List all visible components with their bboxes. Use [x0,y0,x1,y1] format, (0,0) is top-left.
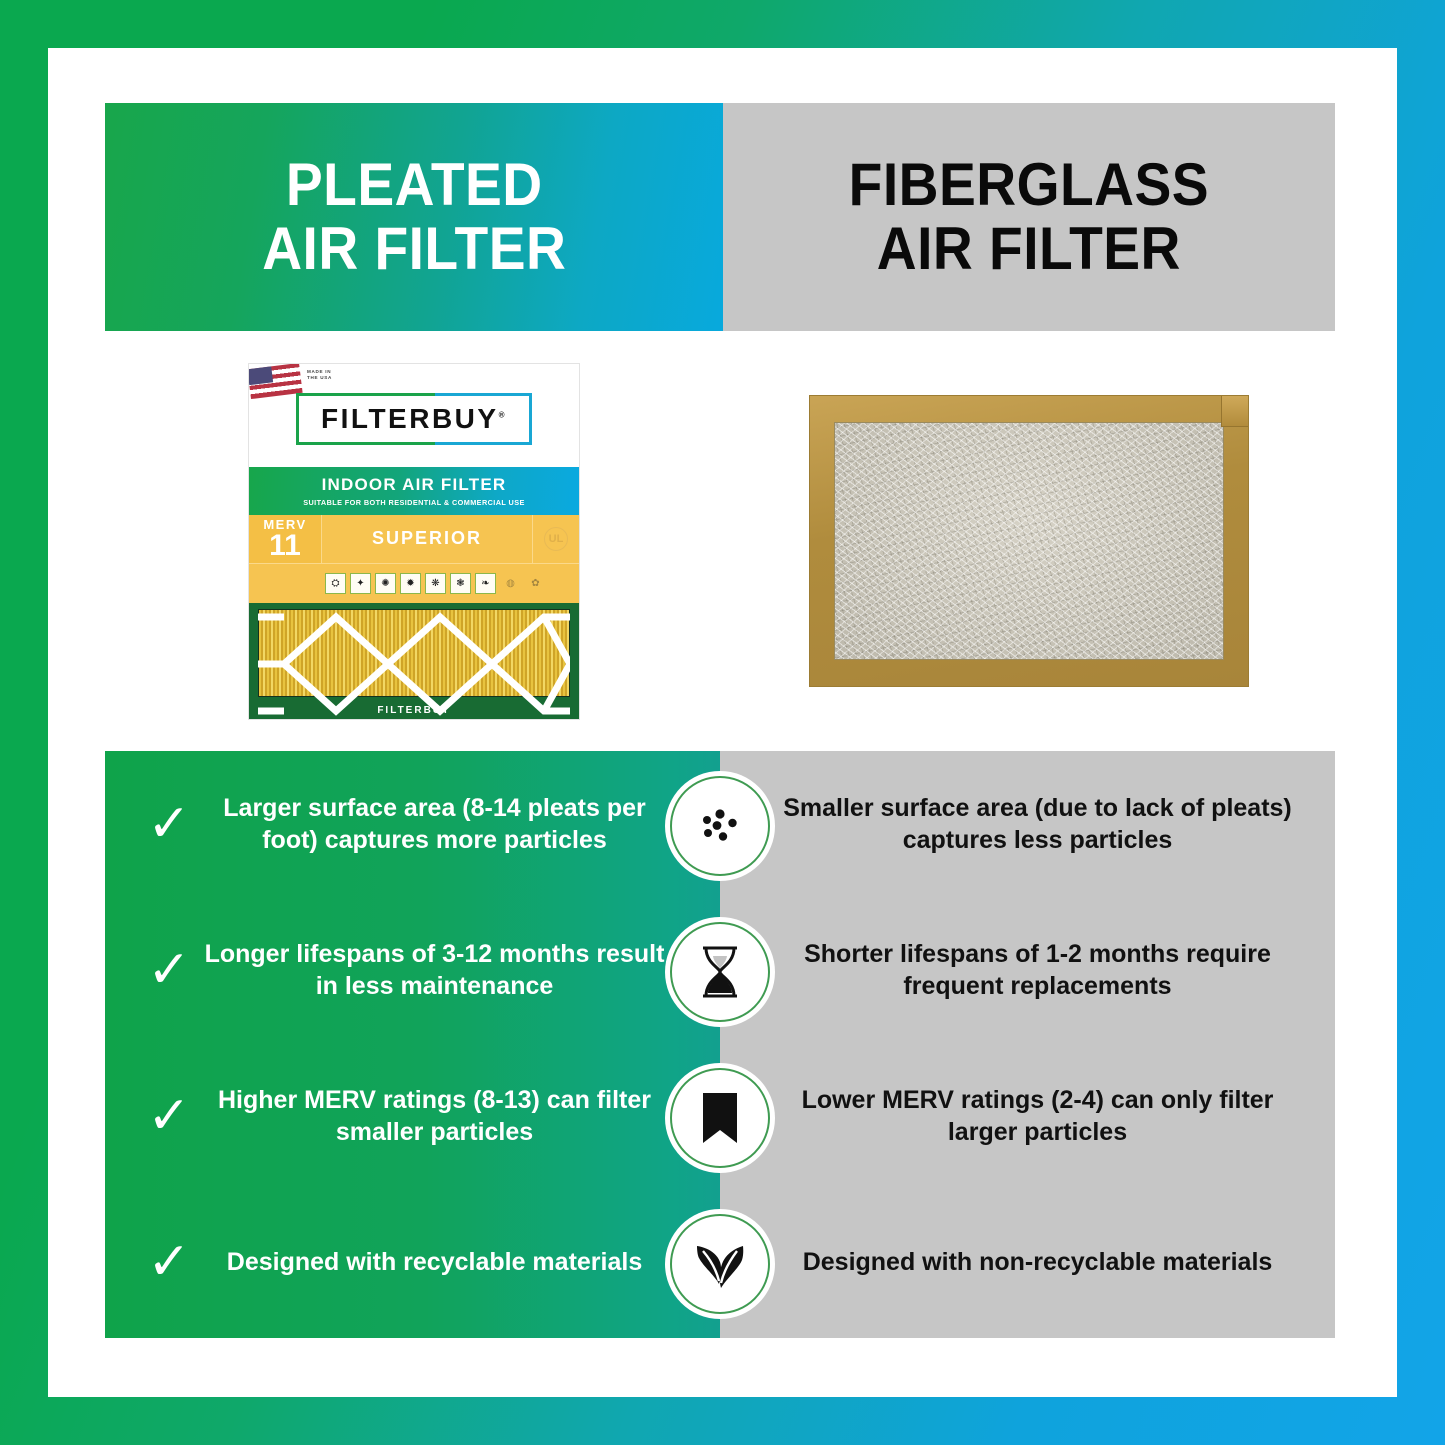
particles-icon-badge [670,776,770,876]
header-pleated-line2: AIR FILTER [262,215,566,282]
fiberglass-product-cell [723,396,1335,686]
mold-icon: ❋ [425,573,446,594]
filterbuy-footer-brand: FILTERBUY [249,705,579,716]
hourglass-icon-badge [670,922,770,1022]
pleated-benefit-text: Designed with recyclable materials [203,1246,666,1279]
hourglass-icon [694,943,746,1001]
particles-icon [692,798,748,854]
header-pleated: PLEATED AIR FILTER [105,103,723,331]
filterbuy-logo-text: FILTERBUY® [321,403,507,435]
fiberglass-filter-image [810,396,1248,686]
grade-label: SUPERIOR [322,515,532,563]
header-fiberglass-line2: AIR FILTER [877,215,1181,282]
checkmark-icon: ✓ [139,944,199,996]
dust-icon: ⛭ [325,573,346,594]
header-fiberglass: FIBERGLASS AIR FILTER [723,103,1335,331]
trademark-symbol: ® [499,411,507,420]
infographic-page: PLEATED AIR FILTER FIBERGLASS AIR FILTER [0,0,1445,1445]
comparison-row-left: ✓ Designed with recyclable materials [105,1236,720,1288]
smoke-icon: ❧ [475,573,496,594]
header-fiberglass-line1: FIBERGLASS [849,151,1209,218]
comparison-row-left: ✓ Higher MERV ratings (8-13) can filter … [105,1084,720,1149]
filterbuy-indoor-band: INDOOR AIR FILTER SUITABLE FOR BOTH RESI… [249,467,579,515]
comparison-section: ✓ Larger surface area (8-14 pleats per f… [105,751,1335,1338]
fiberglass-drawback-text: Shorter lifespans of 1-2 months require … [774,938,1301,1003]
certification-seal: UL [532,515,579,563]
checkmark-icon: ✓ [139,1236,199,1288]
product-images-row: MADE IN THE USA FILTERBUY® INDOOR AIR FI… [105,331,1335,751]
indoor-air-filter-label: INDOOR AIR FILTER [322,475,507,495]
filterbuy-brand: FILTERBUY [321,403,499,434]
fiberglass-frame-tab [1221,396,1248,427]
diamond-support-grid [258,609,570,719]
filterbuy-logo-frame: FILTERBUY® [296,393,532,445]
leaf-icon [691,1236,749,1292]
fiberglass-drawback-text: Lower MERV ratings (2-4) can only filter… [774,1084,1301,1149]
checkmark-icon: ✓ [139,798,199,850]
capsule-icon: ◍ [500,573,521,594]
infographic-content: PLEATED AIR FILTER FIBERGLASS AIR FILTER [105,103,1335,1338]
virus-icon: ✿ [525,573,546,594]
pleated-benefit-text: Higher MERV ratings (8-13) can filter sm… [203,1084,666,1149]
leaf-icon-badge [670,1214,770,1314]
merv-block: MERV 11 [249,515,322,563]
comparison-row-right: Lower MERV ratings (2-4) can only filter… [720,1084,1335,1149]
header-pleated-title: PLEATED AIR FILTER [262,153,566,281]
suitable-use-label: SUITABLE FOR BOTH RESIDENTIAL & COMMERCI… [303,498,525,507]
comparison-row-left: ✓ Longer lifespans of 3-12 months result… [105,938,720,1003]
header-fiberglass-title: FIBERGLASS AIR FILTER [849,153,1209,281]
header-pleated-line1: PLEATED [286,151,543,218]
fiberglass-media-texture [834,422,1224,660]
pleated-benefit-text: Larger surface area (8-14 pleats per foo… [203,792,666,857]
pleated-benefit-text: Longer lifespans of 3-12 months result i… [203,938,666,1003]
bookmark-icon-badge [670,1068,770,1168]
made-in-line2: THE USA [307,375,332,382]
filterbuy-box-image: MADE IN THE USA FILTERBUY® INDOOR AIR FI… [249,364,579,719]
spec-icon-row: ⛭ ✦ ✺ ✹ ❋ ❃ ❧ ◍ ✿ [249,564,579,603]
made-in-usa-label: MADE IN THE USA [307,369,332,383]
pet-dander-icon: ❃ [450,573,471,594]
merv-value: 11 [269,532,301,561]
fiberglass-drawback-text: Smaller surface area (due to lack of ple… [774,792,1301,857]
filterbuy-spec-band: MERV 11 SUPERIOR UL ⛭ ✦ ✺ ✹ [249,515,579,603]
header-row: PLEATED AIR FILTER FIBERGLASS AIR FILTER [105,103,1335,331]
usa-flag-icon [249,364,303,399]
pleated-product-cell: MADE IN THE USA FILTERBUY® INDOOR AIR FI… [105,364,723,719]
ul-seal-icon: UL [544,527,568,551]
pleated-filter-media: FILTERBUY [249,603,579,719]
comparison-row-left: ✓ Larger surface area (8-14 pleats per f… [105,792,720,857]
spec-row-top: MERV 11 SUPERIOR UL [249,515,579,564]
comparison-row-right: Shorter lifespans of 1-2 months require … [720,938,1335,1003]
filterbuy-box-top: MADE IN THE USA FILTERBUY® [249,364,579,467]
fiberglass-drawback-text: Designed with non-recyclable materials [774,1246,1301,1279]
pollen-icon: ✹ [400,573,421,594]
bookmark-icon [697,1090,743,1146]
checkmark-icon: ✓ [139,1090,199,1142]
comparison-row-right: Smaller surface area (due to lack of ple… [720,792,1335,857]
insect-icon: ✦ [350,573,371,594]
comparison-row-right: Designed with non-recyclable materials [720,1246,1335,1279]
made-in-line1: MADE IN [307,369,332,376]
bacteria-icon: ✺ [375,573,396,594]
